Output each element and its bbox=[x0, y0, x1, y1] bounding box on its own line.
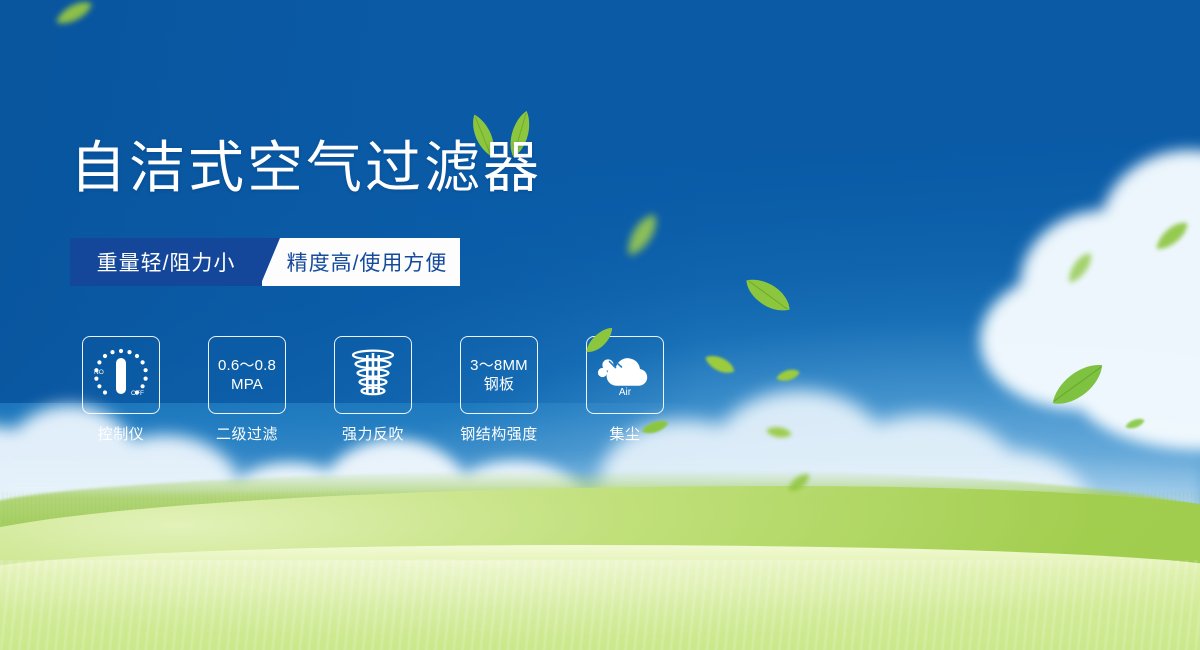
steel-thickness-text: 3〜8MM bbox=[470, 356, 528, 375]
feature-label-blowback: 强力反吹 bbox=[334, 423, 412, 444]
feature-label-pressure: 二级过滤 bbox=[208, 423, 286, 444]
subtitle-badge-bar: 重量轻/阻力小 精度高/使用方便 bbox=[70, 238, 460, 286]
steel-material-text: 钢板 bbox=[484, 375, 514, 394]
pressure-unit-text: MPA bbox=[231, 375, 263, 394]
page-title: 自洁式空气过滤器 bbox=[70, 140, 542, 196]
feature-label-steel: 钢结构强度 bbox=[448, 423, 550, 444]
feature-item-controller[interactable]: NO OFF 控制仪 bbox=[82, 336, 160, 444]
gauge-no-label: NO bbox=[94, 369, 104, 376]
gauge-icon: NO OFF bbox=[90, 345, 152, 405]
feature-box-blowback bbox=[334, 336, 412, 414]
feature-box-controller: NO OFF bbox=[82, 336, 160, 414]
feature-icon-row: NO OFF 控制仪 0.6〜0.8 MPA 二级过滤 bbox=[82, 336, 664, 444]
gauge-off-label: OFF bbox=[131, 390, 144, 397]
filter-cartridge-icon bbox=[345, 347, 401, 403]
pressure-range-text: 0.6〜0.8 bbox=[218, 356, 276, 375]
cloud-air-label: Air bbox=[619, 387, 632, 397]
product-hero-banner: 自洁式空气过滤器 重量轻/阻力小 精度高/使用方便 bbox=[0, 0, 1200, 650]
grass-sheen bbox=[0, 560, 1200, 650]
feature-item-pressure[interactable]: 0.6〜0.8 MPA 二级过滤 bbox=[208, 336, 286, 444]
feature-item-blowback[interactable]: 强力反吹 bbox=[334, 336, 412, 444]
subtitle-left-badge: 重量轻/阻力小 bbox=[70, 238, 262, 286]
feature-box-dust: Air bbox=[586, 336, 664, 414]
feature-box-steel: 3〜8MM 钢板 bbox=[460, 336, 538, 414]
feature-box-pressure: 0.6〜0.8 MPA bbox=[208, 336, 286, 414]
feature-label-controller: 控制仪 bbox=[82, 423, 160, 444]
subtitle-right-badge: 精度高/使用方便 bbox=[262, 238, 460, 286]
cloud-air-icon: Air bbox=[596, 351, 654, 397]
feature-item-steel[interactable]: 3〜8MM 钢板 钢结构强度 bbox=[460, 336, 538, 444]
